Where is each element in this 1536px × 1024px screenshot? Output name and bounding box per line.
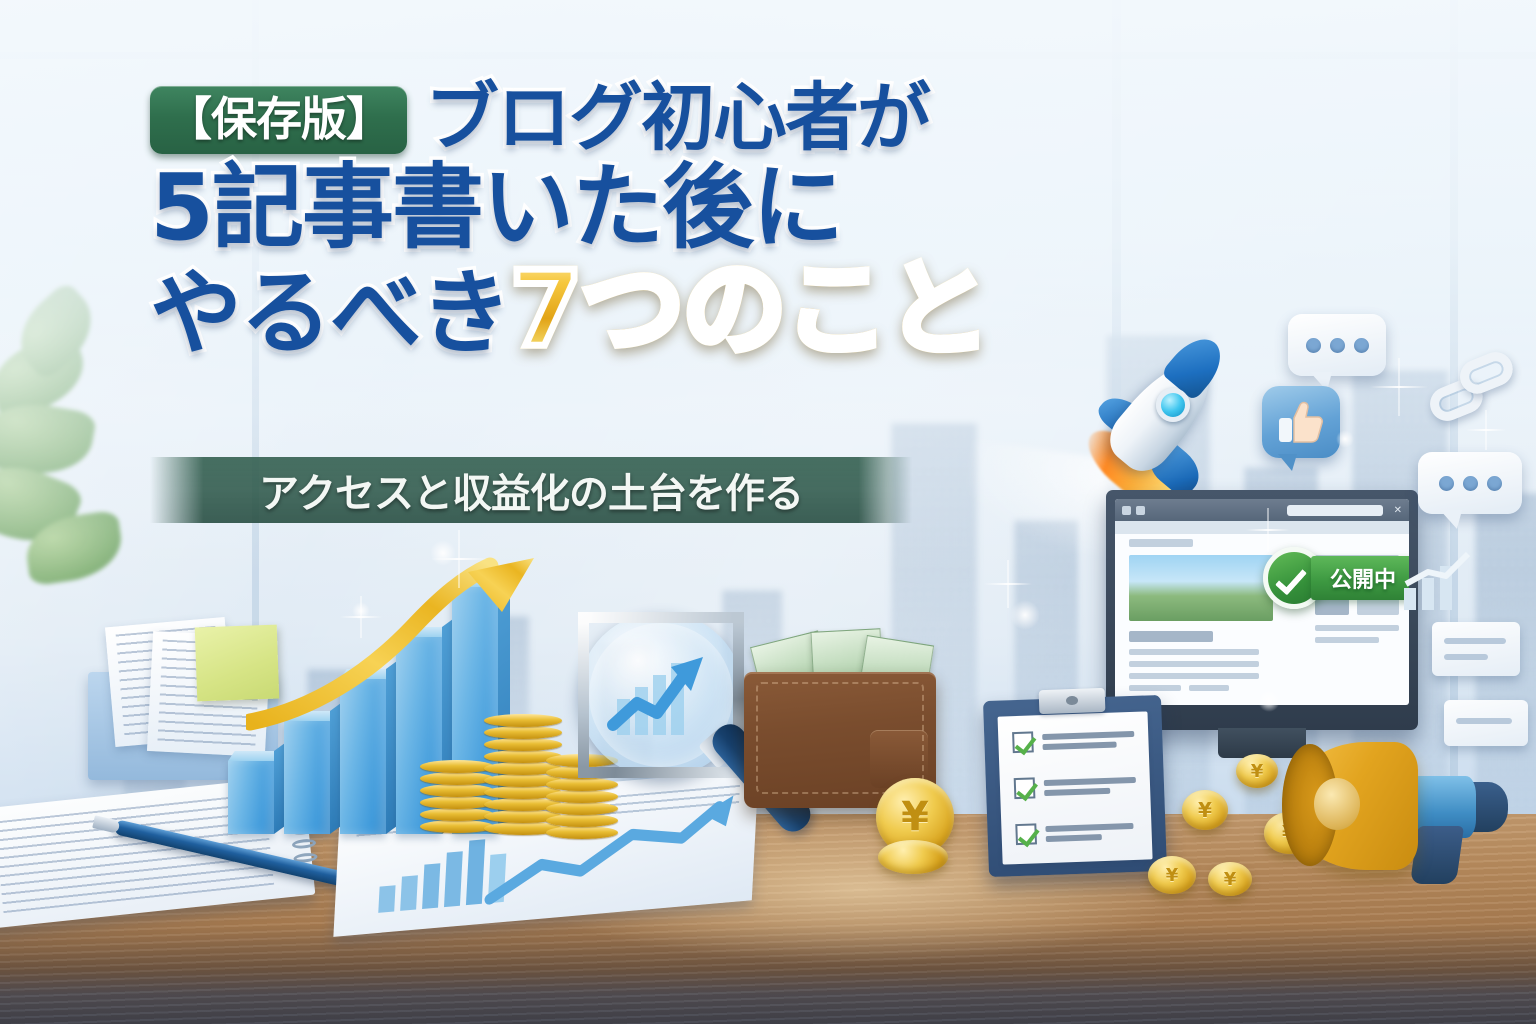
checklist-item-3[interactable] bbox=[1015, 820, 1134, 845]
clipboard-clip bbox=[1039, 688, 1106, 714]
browser-tabbar bbox=[1115, 521, 1409, 534]
thumbs-up-icon bbox=[1262, 386, 1340, 458]
title-line-1: ブログ初心者が bbox=[425, 82, 929, 155]
comment-bubble-icon-2 bbox=[1418, 452, 1522, 514]
comment-bubble-icon bbox=[1288, 314, 1386, 376]
scattered-coin-4: ¥ bbox=[1148, 856, 1196, 894]
megaphone-icon bbox=[1288, 736, 1508, 886]
scattered-coin-1: ¥ bbox=[1182, 790, 1228, 830]
close-icon[interactable]: ✕ bbox=[1394, 505, 1402, 516]
address-bar[interactable] bbox=[1287, 505, 1383, 516]
title-line-3-highlight: 7つのこと bbox=[510, 248, 988, 370]
poster-canvas: ¥ ✕ bbox=[0, 0, 1536, 1024]
title-line-2: 5記事書いた後に bbox=[150, 163, 980, 253]
small-bar-chart-icon bbox=[1398, 548, 1476, 614]
lines-card-icon bbox=[1432, 622, 1520, 676]
saved-edition-badge: 【保存版】 bbox=[150, 86, 407, 154]
magnifier-icon bbox=[578, 612, 744, 778]
checkbox-checked-icon-3[interactable] bbox=[1015, 823, 1037, 845]
status-badge: 公開中 bbox=[1311, 556, 1409, 600]
bar-1 bbox=[228, 760, 274, 834]
checklist-item-1[interactable] bbox=[1012, 728, 1135, 753]
title-line-3: やるべき7つのこと bbox=[150, 259, 980, 361]
checkbox-checked-icon[interactable] bbox=[1012, 731, 1034, 753]
article-hero-image bbox=[1129, 555, 1273, 621]
scattered-coin-5: ¥ bbox=[1208, 862, 1252, 896]
title-block: 【保存版】 ブログ初心者が 5記事書いた後に やるべき7つのこと bbox=[150, 86, 980, 361]
yen-coin-small bbox=[878, 840, 948, 874]
checkbox-checked-icon-2[interactable] bbox=[1014, 777, 1036, 799]
monitor: ✕ 公開中 bbox=[1106, 490, 1418, 730]
subtitle-bar: アクセスと収益化の土台を作る bbox=[150, 457, 912, 523]
scattered-coin-2: ¥ bbox=[1236, 754, 1278, 788]
subtitle-text: アクセスと収益化の土台を作る bbox=[259, 461, 803, 519]
clipboard-paper bbox=[998, 711, 1153, 864]
browser-toolbar: ✕ bbox=[1115, 499, 1409, 521]
coin-stack-1 bbox=[420, 754, 494, 842]
lines-card-icon-2 bbox=[1444, 700, 1528, 746]
clipboard-checklist bbox=[983, 695, 1167, 877]
checklist-item-2[interactable] bbox=[1014, 774, 1137, 799]
title-line-3-prefix: やるべき bbox=[150, 260, 510, 367]
monitor-screen: ✕ 公開中 bbox=[1115, 499, 1409, 705]
